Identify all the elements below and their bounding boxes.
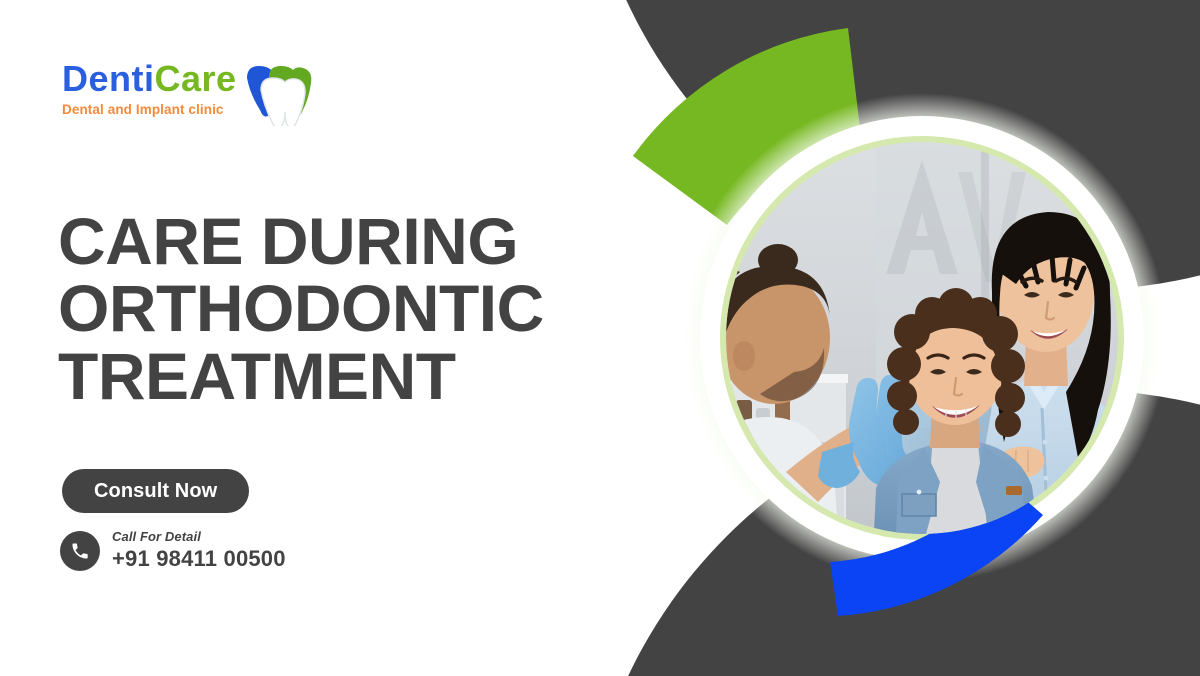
contact-text: Call For Detail +91 98411 00500 — [112, 530, 286, 572]
logo-text: DentiCare Dental and Implant clinic — [62, 60, 237, 117]
consult-now-button[interactable]: Consult Now — [62, 469, 249, 513]
page-title: CARE DURING ORTHODONTIC TREATMENT — [58, 208, 658, 410]
hero-photo — [726, 142, 1118, 534]
contact-label: Call For Detail — [112, 530, 286, 545]
logo-tagline: Dental and Implant clinic — [62, 102, 237, 117]
contact-phone-number[interactable]: +91 98411 00500 — [112, 546, 286, 572]
content-column: DentiCare Dental and Implant clinic CARE… — [0, 0, 640, 676]
phone-icon — [60, 531, 100, 571]
headline-line-3: TREATMENT — [58, 343, 658, 410]
brand-logo[interactable]: DentiCare Dental and Implant clinic — [62, 60, 315, 126]
contact-block[interactable]: Call For Detail +91 98411 00500 — [60, 530, 286, 572]
logo-word-care: Care — [155, 58, 237, 99]
logo-word-denti: Denti — [62, 58, 155, 99]
logo-wordmark: DentiCare — [62, 60, 237, 98]
marketing-banner: DentiCare Dental and Implant clinic CARE… — [0, 0, 1200, 676]
headline-line-1: CARE DURING — [58, 208, 658, 275]
headline-line-2: ORTHODONTIC — [58, 275, 658, 342]
three-teeth-icon — [243, 62, 315, 126]
